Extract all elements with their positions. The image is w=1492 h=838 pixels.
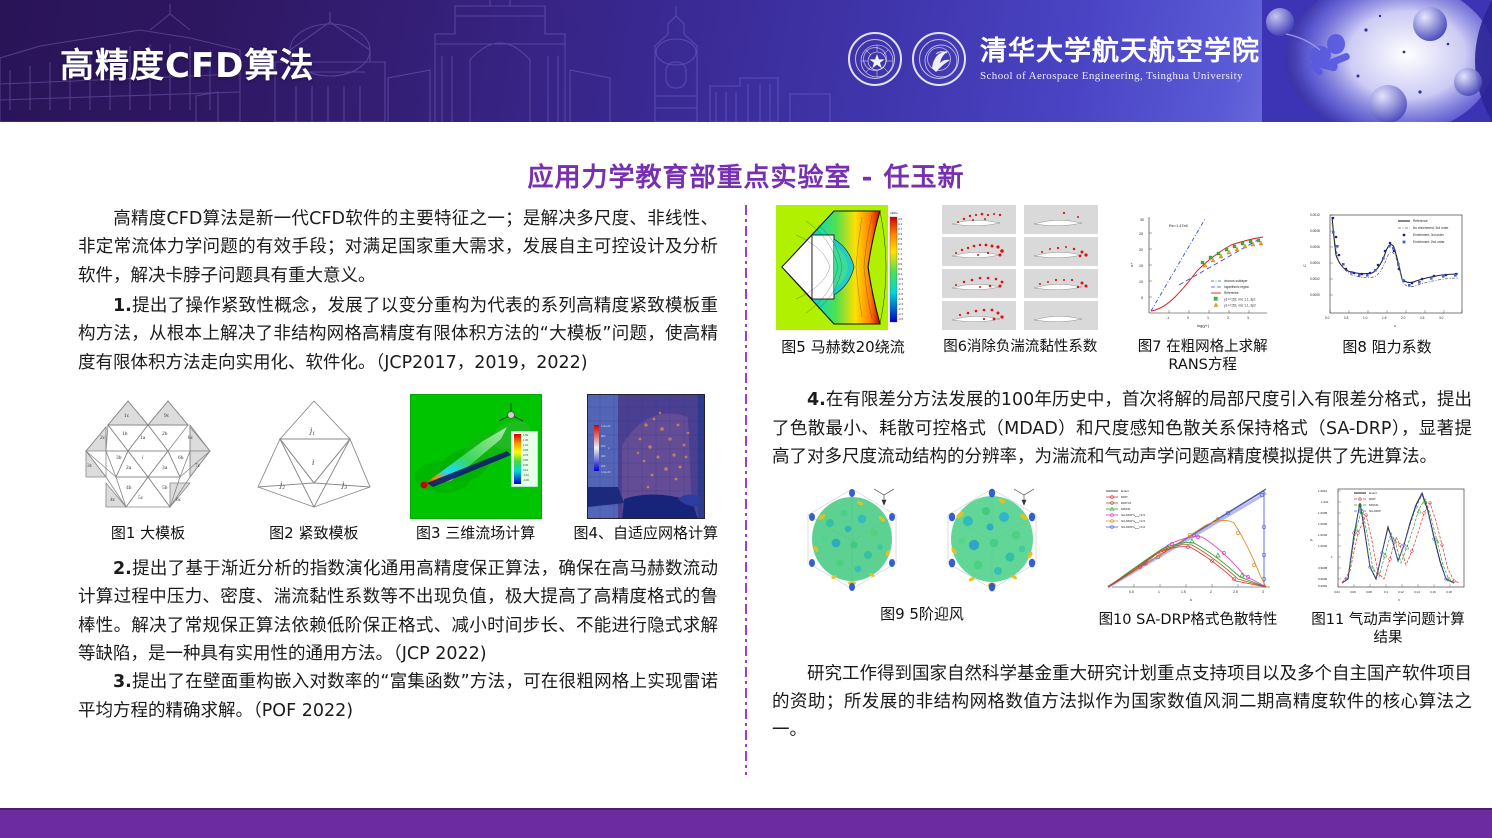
svg-text:Reference: Reference (1224, 291, 1239, 295)
svg-text:2.9: 2.9 (898, 237, 903, 241)
left-item-2: 2.提出了基于渐近分析的指数演化通用高精度保正算法，确保在高马赫数流动计算过程中… (78, 555, 718, 668)
slide-title: 应用力学教育部重点实验室 - 任玉新 (0, 157, 1492, 194)
svg-text:-1: -1 (1166, 316, 1169, 320)
airfoil-panel (942, 269, 1016, 298)
right-column: InRho 4.54.13.7 3.32.92.5 2.11.71.3 0.90… (772, 205, 1472, 745)
svg-text:1.0008: 1.0008 (1318, 511, 1328, 515)
svg-text:0.5: 0.5 (898, 267, 903, 271)
svg-text:0.16: 0.16 (1430, 590, 1436, 594)
figure-8-caption: 图8 阻力系数 (1342, 338, 1431, 357)
turbulence-isosurface-graphic: Ma 0 0.02 0.04 0.06 0.08 0.1 (800, 483, 1044, 595)
svg-text:3: 3 (1262, 590, 1264, 594)
figure-11: 0.040.060.08 0.10.120.14 0.160.18 1.0012… (1304, 483, 1472, 647)
svg-text:1.30: 1.30 (523, 438, 529, 442)
svg-text:1: 1 (1207, 316, 1209, 320)
svg-text:-1.9: -1.9 (898, 297, 904, 301)
svg-text:1.5: 1.5 (1181, 590, 1186, 594)
svg-text:5: 5 (1141, 296, 1143, 300)
svg-text:-0.10: -0.10 (523, 473, 529, 477)
svg-text:0.0006: 0.0006 (1310, 245, 1320, 249)
svg-text:ρ: ρ (1309, 539, 1313, 541)
svg-text:1.0: 1.0 (1363, 316, 1368, 320)
svg-text:200: 200 (601, 464, 606, 468)
figure-10-caption: 图10 SA-DRP格式色散特性 (1099, 611, 1278, 629)
figure-3-caption: 图3 三维流场计算 (416, 524, 535, 543)
svg-text:-0.7: -0.7 (898, 282, 904, 286)
figure-7: -101 23 51015 202530 log(y+) u+ Re=1.47e… (1127, 205, 1279, 374)
svg-text:1.3: 1.3 (898, 257, 903, 261)
item-2-number: 2. (113, 559, 132, 579)
svg-text:0.90: 0.90 (523, 448, 529, 452)
svg-text:2b: 2b (162, 431, 168, 437)
svg-text:0.9994: 0.9994 (1318, 584, 1328, 588)
header-banner: 高精度CFD算法 清华大学航天航空学院 School of Aerospace … (0, 0, 1492, 122)
astronaut-space-graphic (1262, 0, 1492, 122)
large-stencil-mesh-graphic: 1c9c 1b2b 1a 2c8c 3bi6b 3c7c 2a3a 4b5b 5… (78, 391, 218, 519)
svg-text:0.04: 0.04 (1334, 590, 1340, 594)
svg-text:6c: 6c (176, 497, 182, 503)
svg-text:1: 1 (1158, 590, 1160, 594)
left-column: 高精度CFD算法是新一代CFD软件的主要特征之一；是解决多尺度、非线性、非定常流… (78, 205, 718, 725)
svg-text:800: 800 (601, 434, 606, 438)
svg-text:0.0008: 0.0008 (1310, 229, 1320, 233)
svg-text:0.14: 0.14 (1414, 590, 1420, 594)
organization-name-en: School of Aerospace Engineering, Tsinghu… (980, 70, 1260, 82)
svg-text:viscous sublayer: viscous sublayer (1224, 279, 1249, 283)
svg-text:0: 0 (1187, 316, 1189, 320)
figure-1-caption: 图1 大模板 (111, 524, 185, 543)
svg-text:Exact: Exact (1121, 489, 1129, 493)
figure-5-caption: 图5 马赫数20绕流 (781, 338, 904, 357)
left-intro-text: 高精度CFD算法是新一代CFD软件的主要特征之一；是解决多尺度、非线性、非定常流… (78, 209, 718, 286)
svg-text:1.0006: 1.0006 (1318, 522, 1328, 526)
figure-9: Ma 0 0.02 0.04 0.06 0.08 0.1 (772, 483, 1072, 624)
svg-text:0.0002: 0.0002 (1310, 277, 1320, 281)
airfoil-panel (942, 237, 1016, 266)
3d-flow-field-graphic: 1.501.30 1.100.90 0.700.50 0.300.10 -0.1… (410, 394, 542, 519)
svg-text:1.0e+02: 1.0e+02 (601, 424, 611, 428)
svg-text:9c: 9c (164, 413, 170, 419)
svg-text:-0.3: -0.3 (898, 277, 904, 281)
svg-text:3b: 3b (116, 455, 122, 461)
svg-text:20: 20 (1139, 248, 1143, 252)
figure-2: j1 i j2 j3 图2 紧致模板 (250, 391, 378, 543)
svg-text:25: 25 (1139, 232, 1143, 236)
svg-text:MDCD: MDCD (1121, 507, 1131, 511)
mach20-wedge-graphic: InRho 4.54.13.7 3.32.92.5 2.11.71.3 0.90… (776, 205, 911, 330)
svg-text:1.0e+00: 1.0e+00 (601, 470, 611, 474)
airfoil-negative-viscosity-graphic (942, 205, 1098, 330)
svg-text:0.5: 0.5 (1129, 590, 1134, 594)
svg-text:j3: j3 (341, 480, 347, 491)
svg-text:0.9998: 0.9998 (1318, 566, 1328, 570)
svg-text:7c: 7c (195, 463, 201, 469)
figure-11-caption: 图11 气动声学问题计算结果 (1304, 611, 1472, 647)
svg-text:DRP: DRP (1121, 495, 1128, 499)
svg-text:2: 2 (1227, 316, 1229, 320)
svg-text:InRho: InRho (890, 211, 898, 215)
svg-text:1c: 1c (124, 413, 130, 419)
svg-text:j1: j1 (309, 426, 315, 437)
svg-text:0.0010: 0.0010 (1310, 213, 1320, 217)
svg-text:Enrichment, 3rd order: Enrichment, 3rd order (1413, 233, 1445, 237)
svg-text:0.1: 0.1 (898, 272, 903, 276)
adaptive-mesh-graphic: 1.0e+02800 600400 2001.0e+00 p (587, 394, 705, 519)
svg-text:400: 400 (601, 454, 606, 458)
left-item-1: 1.提出了操作紧致性概念，发展了以变分重构为代表的系列高精度紧致模板重构方法，从… (78, 292, 718, 377)
svg-text:600: 600 (601, 444, 606, 448)
svg-text:y1+=152, nnc 1.1, 3p1: y1+=152, nnc 1.1, 3p1 (1224, 298, 1256, 302)
svg-text:3.3: 3.3 (898, 232, 903, 236)
svg-text:-1.5: -1.5 (898, 292, 904, 296)
page-title: 高精度CFD算法 (60, 38, 314, 87)
svg-text:0.9: 0.9 (898, 262, 903, 266)
item-4-number: 4. (807, 390, 826, 410)
svg-text:4.1: 4.1 (898, 222, 903, 226)
svg-text:logarithmic region: logarithmic region (1224, 285, 1249, 289)
item-4-text: 在有限差分方法发展的100年历史中，首次将解的局部尺度引入有限差分格式，提出了色… (772, 390, 1472, 467)
svg-text:5c: 5c (138, 495, 144, 501)
svg-text:1a: 1a (140, 435, 146, 441)
svg-text:Reference: Reference (1413, 219, 1428, 223)
svg-text:k: k (1190, 597, 1192, 602)
figure-8: 0.00.51.0 1.52.02.5 3.0 0.00100.00080.00… (1302, 205, 1472, 357)
svg-text:0.70: 0.70 (523, 453, 529, 457)
figure-2-caption: 图2 紧致模板 (269, 524, 358, 543)
item-3-text: 提出了在壁面重构嵌入对数率的“富集函数”方法，可在很粗网格上实现雷诺平均方程的精… (78, 672, 718, 720)
organization-name-cn: 清华大学航天航空学院 (980, 36, 1260, 67)
turbulence-cube-panel: Ma 0 0.02 0.04 0.06 0.08 0.1 (800, 483, 904, 595)
drag-coefficient-graphic: 0.00.51.0 1.52.02.5 3.0 0.00100.00080.00… (1302, 205, 1472, 330)
svg-text:i: i (312, 458, 314, 467)
svg-text:0.30: 0.30 (523, 463, 529, 467)
right-figure-row-top: InRho 4.54.13.7 3.32.92.5 2.11.71.3 0.90… (772, 205, 1472, 374)
airfoil-panel (1024, 205, 1098, 234)
svg-text:x: x (1398, 598, 1400, 602)
right-closing-paragraph: 研究工作得到国家自然科学基金重大研究计划重点支持项目以及多个自主国产软件项目的资… (772, 660, 1472, 745)
item-3-number: 3. (113, 672, 132, 692)
svg-text:u+: u+ (1129, 262, 1134, 267)
svg-text:4c: 4c (110, 497, 116, 503)
airfoil-panel (1024, 237, 1098, 266)
figure-7-caption: 图7 在粗网格上求解RANS方程 (1127, 338, 1279, 374)
svg-text:1.001: 1.001 (1321, 500, 1329, 504)
svg-text:-3.5: -3.5 (898, 317, 904, 321)
airfoil-panel (1024, 301, 1098, 330)
svg-text:1.10: 1.10 (523, 443, 529, 447)
svg-text:Exact: Exact (1369, 491, 1377, 495)
svg-text:1.7: 1.7 (898, 252, 903, 256)
svg-text:C: C (1303, 264, 1307, 267)
left-figure-row: 1c9c 1b2b 1a 2c8c 3bi6b 3c7c 2a3a 4b5b 5… (78, 391, 718, 543)
svg-text:0.08: 0.08 (1366, 590, 1372, 594)
figure-4-caption: 图4、自适应网格计算 (573, 524, 718, 543)
svg-text:y1+=152, nnc 1.1, 3p2: y1+=152, nnc 1.1, 3p2 (1224, 304, 1256, 308)
svg-text:1b: 1b (122, 431, 128, 437)
svg-text:x: x (1394, 324, 1396, 328)
svg-text:3c: 3c (87, 463, 93, 469)
tsinghua-university-seal-icon (848, 32, 902, 86)
svg-text:i: i (142, 455, 144, 461)
svg-text:DRP: DRP (1369, 497, 1376, 501)
svg-text:0.0004: 0.0004 (1310, 261, 1320, 265)
svg-text:-3.1: -3.1 (898, 312, 904, 316)
svg-text:3: 3 (1247, 316, 1249, 320)
svg-text:MDCD: MDCD (1369, 503, 1379, 507)
svg-text:30: 30 (1140, 218, 1144, 222)
svg-text:2c: 2c (100, 435, 106, 441)
dispersion-relation-graphic: 0.511.5 22.53 k (1098, 483, 1278, 605)
right-figure-row-bottom: Ma 0 0.02 0.04 0.06 0.08 0.1 (772, 483, 1472, 647)
svg-text:1.0002: 1.0002 (1318, 544, 1328, 548)
svg-text:1.50: 1.50 (523, 433, 529, 437)
svg-text:0.10: 0.10 (523, 468, 529, 472)
closing-text: 研究工作得到国家自然科学基金重大研究计划重点支持项目以及多个自主国产软件项目的资… (772, 664, 1472, 741)
footer-bar (0, 808, 1492, 838)
svg-text:log(y+): log(y+) (1197, 323, 1210, 328)
svg-text:0.0000: 0.0000 (1310, 293, 1320, 297)
svg-text:0.06: 0.06 (1350, 590, 1356, 594)
svg-text:5b: 5b (162, 485, 168, 491)
svg-text:j2: j2 (279, 480, 285, 491)
left-item-3: 3.提出了在壁面重构嵌入对数率的“富集函数”方法，可在很粗网格上实现雷诺平均方程… (78, 668, 718, 725)
svg-text:0.5: 0.5 (1344, 316, 1349, 320)
right-item-4: 4.在有限差分方法发展的100年历史中，首次将解的局部尺度引入有限差分格式，提出… (772, 386, 1472, 471)
svg-text:DRP-M: DRP-M (1121, 501, 1132, 505)
svg-text:0.50: 0.50 (523, 458, 529, 462)
svg-text:2a: 2a (126, 465, 132, 471)
turbulence-cube-panel: Ma 0 0.02 0.04 0.06 0.08 0.1 (940, 483, 1044, 595)
svg-text:1.0012: 1.0012 (1318, 489, 1328, 493)
svg-text:6b: 6b (178, 455, 184, 461)
svg-text:-0.30: -0.30 (523, 478, 529, 482)
figure-6-caption: 图6消除负湍流黏性系数 (943, 338, 1097, 356)
column-divider (745, 205, 747, 775)
aeroacoustics-result-graphic: 0.040.060.08 0.10.120.14 0.160.18 1.0012… (1304, 483, 1472, 605)
airfoil-panel (942, 205, 1016, 234)
left-intro-paragraph: 高精度CFD算法是新一代CFD软件的主要特征之一；是解决多尺度、非线性、非定常流… (78, 205, 718, 290)
item-1-text: 提出了操作紧致性概念，发展了以变分重构为代表的系列高精度紧致模板重构方法，从根本… (78, 296, 718, 373)
svg-text:0.1: 0.1 (1384, 590, 1389, 594)
aerospace-school-seal-icon (912, 32, 966, 86)
svg-text:0.0: 0.0 (1325, 316, 1330, 320)
svg-text:2.5: 2.5 (898, 242, 903, 246)
svg-text:15: 15 (1139, 264, 1143, 268)
svg-text:4b: 4b (126, 485, 132, 491)
svg-text:-2.7: -2.7 (898, 307, 904, 311)
figure-9-caption: 图9 5阶迎风 (880, 605, 964, 624)
svg-text:1.5: 1.5 (1382, 316, 1387, 320)
svg-text:3a: 3a (162, 465, 168, 471)
svg-text:Enrichment, 2nd order: Enrichment, 2nd order (1413, 240, 1445, 244)
svg-text:0.12: 0.12 (1398, 590, 1404, 594)
svg-text:10: 10 (1139, 280, 1143, 284)
item-2-text: 提出了基于渐近分析的指数演化通用高精度保正算法，确保在高马赫数流动计算过程中压力… (78, 559, 718, 664)
figure-5: InRho 4.54.13.7 3.32.92.5 2.11.71.3 0.90… (772, 205, 914, 357)
airfoil-panel (942, 301, 1016, 330)
svg-text:0.18: 0.18 (1446, 590, 1452, 594)
svg-text:2.0: 2.0 (1401, 316, 1406, 320)
compact-stencil-mesh-graphic: j1 i j2 j3 (250, 391, 378, 519)
svg-text:2.5: 2.5 (1233, 590, 1238, 594)
figure-4: 1.0e+02800 600400 2001.0e+00 p 图4、自适应网格计… (573, 394, 718, 543)
figure-1: 1c9c 1b2b 1a 2c8c 3bi6b 3c7c 2a3a 4b5b 5… (78, 391, 218, 543)
svg-text:0.9996: 0.9996 (1318, 577, 1328, 581)
svg-text:1.0004: 1.0004 (1318, 533, 1328, 537)
svg-text:8c: 8c (188, 435, 194, 441)
svg-text:3.7: 3.7 (898, 227, 903, 231)
svg-text:2.5: 2.5 (1420, 316, 1425, 320)
svg-text:-1.1: -1.1 (898, 287, 904, 291)
svg-text:2.1: 2.1 (898, 247, 903, 251)
svg-text:Re=1.47e6: Re=1.47e6 (1169, 224, 1188, 228)
svg-text:3.0: 3.0 (1439, 316, 1444, 320)
figure-10: 0.511.5 22.53 k (1098, 483, 1278, 629)
svg-text:SA-DRP: SA-DRP (1369, 509, 1381, 513)
university-logo-group: 清华大学航天航空学院 School of Aerospace Engineeri… (848, 32, 1260, 86)
svg-text:2: 2 (1210, 590, 1212, 594)
figure-6: 图6消除负湍流黏性系数 (937, 205, 1103, 356)
item-1-number: 1. (113, 296, 132, 316)
airfoil-panel (1024, 269, 1098, 298)
svg-text:-2.3: -2.3 (898, 302, 904, 306)
svg-text:No enrichment, 3rd order: No enrichment, 3rd order (1413, 226, 1449, 230)
log-law-velocity-profile-graphic: -101 23 51015 202530 log(y+) u+ Re=1.47e… (1127, 205, 1279, 330)
figure-3: 1.501.30 1.100.90 0.700.50 0.300.10 -0.1… (410, 394, 542, 543)
svg-text:4.5: 4.5 (898, 217, 903, 221)
